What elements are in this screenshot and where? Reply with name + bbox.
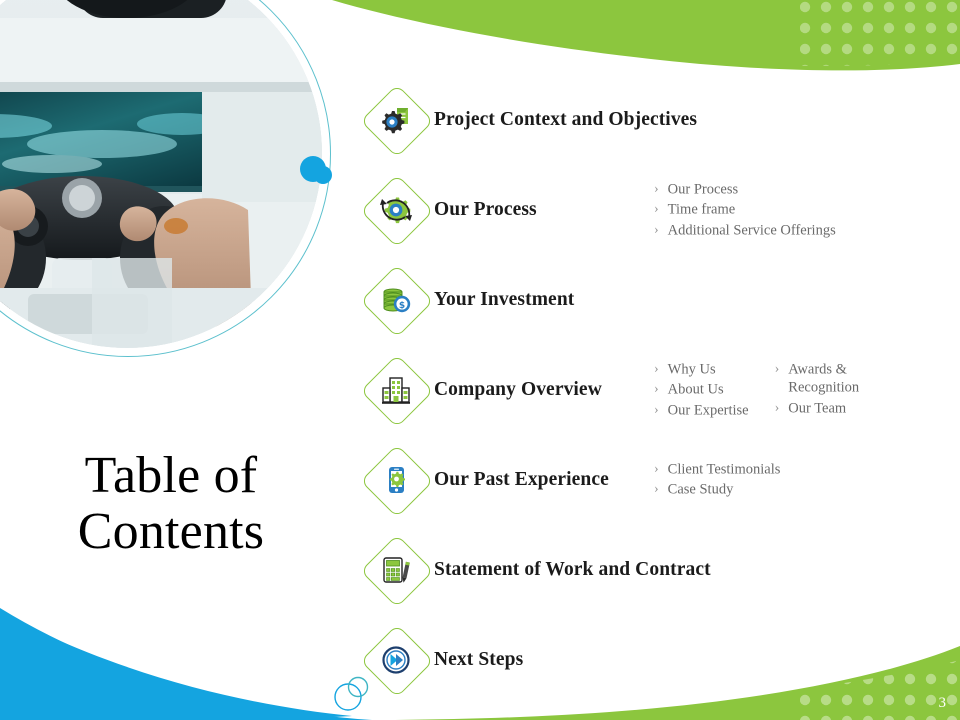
gear-document-icon	[364, 88, 428, 152]
chevron-right-icon: ›	[775, 399, 780, 417]
toc-item-label: Next Steps	[434, 649, 523, 671]
toc-item-label: Your Investment	[434, 289, 574, 311]
chevron-right-icon: ›	[654, 401, 659, 419]
list-item[interactable]: › Our Team	[775, 399, 881, 417]
toc-subitem-label: Time frame	[668, 201, 736, 219]
chevron-right-icon: ›	[654, 181, 659, 199]
list-item[interactable]: › Why Us	[654, 361, 749, 379]
blue-accent-dot-small	[314, 166, 332, 184]
list-item[interactable]: › Additional Service Offerings	[654, 221, 836, 239]
toc-item-statement-of-work[interactable]: Statement of Work and Contract	[364, 538, 944, 602]
toc-subitem-label: Our Process	[668, 181, 738, 199]
toc-subitem-label: Additional Service Offerings	[668, 221, 836, 239]
toc-icon-badge: $	[364, 268, 428, 332]
bottom-blue-wave	[0, 612, 352, 720]
chevron-right-icon: ›	[654, 461, 659, 479]
toc-subitem-label: Why Us	[668, 361, 716, 379]
toc-item-label: Statement of Work and Contract	[434, 559, 711, 581]
toc-subitem-label: Our Team	[788, 399, 846, 417]
toc-subitem-label: Our Expertise	[668, 401, 749, 419]
fast-forward-icon	[364, 628, 428, 692]
toc-item-company-overview[interactable]: Company Overview › Why Us › About Us › O…	[364, 358, 944, 422]
photo-circle	[0, 0, 322, 348]
top-green-wave	[332, 0, 960, 70]
office-building-icon	[364, 358, 428, 422]
toc-item-label: Our Past Experience	[434, 469, 609, 491]
toc-subitems: › Our Process › Time frame › Additional …	[654, 181, 836, 240]
toc-item-label: Our Process	[434, 199, 537, 221]
toc-icon-badge	[364, 538, 428, 602]
chevron-right-icon: ›	[654, 201, 659, 219]
page-title-line-2: Contents	[0, 504, 342, 560]
toc-icon-badge	[364, 358, 428, 422]
toc-item-label: Company Overview	[434, 379, 602, 401]
toc-subitem-label: Case Study	[668, 481, 734, 499]
toc-item-your-investment[interactable]: $ Your Investment	[364, 268, 944, 332]
mobile-gear-icon	[364, 448, 428, 512]
table-of-contents-list: Project Context and Objectives	[364, 88, 944, 692]
list-item[interactable]: › Client Testimonials	[654, 461, 780, 479]
chevron-right-icon: ›	[775, 361, 780, 379]
chevron-right-icon: ›	[654, 481, 659, 499]
toc-subitems: › Why Us › About Us › Our Expertise ›	[654, 361, 880, 420]
svg-text:$: $	[399, 301, 405, 311]
toc-icon-badge	[364, 628, 428, 692]
toc-icon-badge	[364, 448, 428, 512]
page-number: 3	[939, 695, 947, 712]
chevron-right-icon: ›	[654, 221, 659, 239]
toc-icon-badge	[364, 88, 428, 152]
slide-canvas: Table of Contents	[0, 0, 960, 720]
toc-item-label: Project Context and Objectives	[434, 109, 697, 131]
money-coins-icon: $	[364, 268, 428, 332]
list-item[interactable]: › Time frame	[654, 201, 836, 219]
chevron-right-icon: ›	[654, 381, 659, 399]
toc-subitem-column: › Awards & Recognition › Our Team	[775, 361, 881, 420]
list-item[interactable]: › Awards & Recognition	[775, 361, 881, 398]
toc-subitem-column: › Client Testimonials › Case Study	[654, 461, 780, 500]
toc-subitem-label: Client Testimonials	[668, 461, 781, 479]
toc-item-project-context[interactable]: Project Context and Objectives	[364, 88, 944, 152]
list-item[interactable]: › Case Study	[654, 481, 780, 499]
toc-subitem-column: › Why Us › About Us › Our Expertise	[654, 361, 749, 420]
toc-item-our-past-experience[interactable]: Our Past Experience › Client Testimonial…	[364, 448, 944, 512]
list-item[interactable]: › About Us	[654, 381, 749, 399]
list-item[interactable]: › Our Process	[654, 181, 836, 199]
toc-icon-badge	[364, 178, 428, 242]
toc-subitem-column: › Our Process › Time frame › Additional …	[654, 181, 836, 240]
page-title-line-1: Table of	[0, 448, 342, 504]
chevron-right-icon: ›	[654, 361, 659, 379]
toc-item-our-process[interactable]: Our Process › Our Process › Time frame ›…	[364, 178, 944, 242]
toc-subitem-label: Awards & Recognition	[788, 361, 880, 398]
bottom-blue-wave-fill	[0, 608, 372, 720]
list-item[interactable]: › Our Expertise	[654, 401, 749, 419]
page-title: Table of Contents	[0, 448, 342, 559]
gaming-photo	[0, 0, 322, 348]
calculator-pen-icon	[364, 538, 428, 602]
toc-item-next-steps[interactable]: Next Steps	[364, 628, 944, 692]
gear-refresh-icon	[364, 178, 428, 242]
toc-subitems: › Client Testimonials › Case Study	[654, 461, 780, 500]
toc-subitem-label: About Us	[668, 381, 724, 399]
deco-circle-outline-a	[335, 684, 361, 710]
